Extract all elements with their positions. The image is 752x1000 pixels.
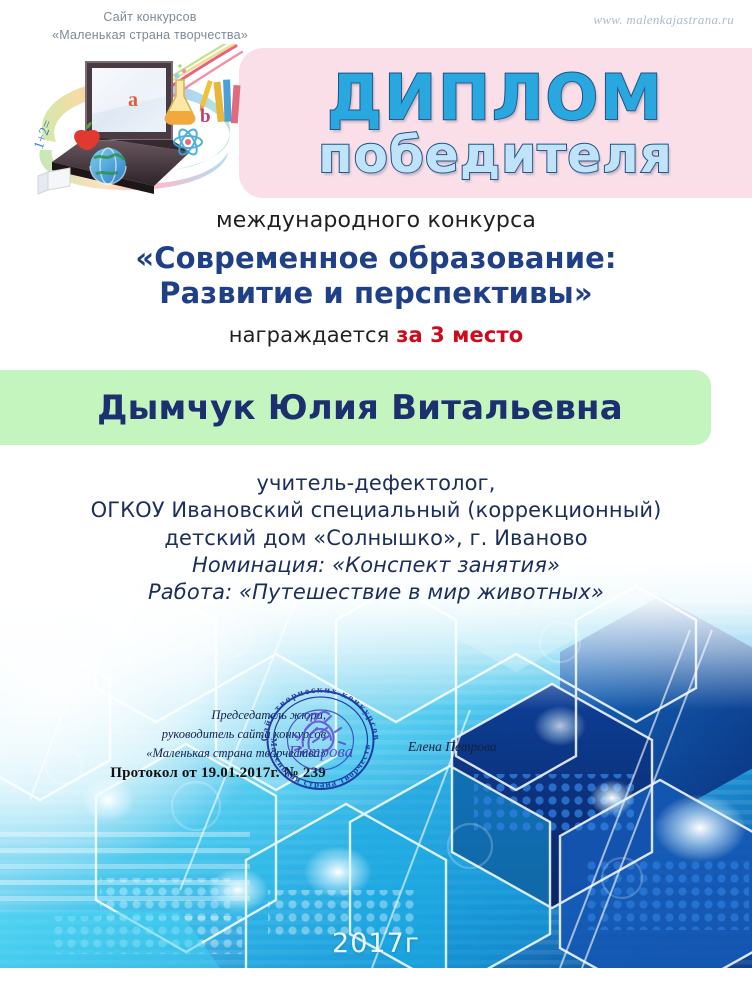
recipient-details: учитель-дефектолог, ОГКОУ Ивановский спе… bbox=[0, 470, 752, 606]
certificate-page: Сайт конкурсов «Маленькая страна творчес… bbox=[0, 0, 752, 1000]
recipient-detail-line: Номинация: «Конспект занятия» bbox=[0, 552, 752, 579]
recipient-detail-line: детский дом «Солнышко», г. Иваново bbox=[0, 525, 752, 552]
recipient-detail-line: Работа: «Путешествие в мир животных» bbox=[0, 579, 752, 606]
recipient-detail-line: ОГКОУ Ивановский специальный (коррекцион… bbox=[0, 497, 752, 524]
award-subtitle: международного конкурса bbox=[0, 208, 752, 233]
site-name-header: Сайт конкурсов «Маленькая страна творчес… bbox=[0, 8, 300, 44]
site-url: www. malenkajastrana.ru bbox=[593, 12, 734, 28]
title-diplom: ДИПЛОМ bbox=[327, 68, 664, 128]
seal-icon: ★ Сайт творческих конкурсов ★ Маленькая … bbox=[253, 684, 388, 794]
award-place: за 3 место bbox=[396, 323, 523, 347]
title-pobeditelya: победителя bbox=[318, 130, 673, 180]
competition-name-line1: «Современное образование: bbox=[0, 241, 752, 276]
certificate-year: 2017г bbox=[0, 928, 752, 959]
recipient-name: Дымчук Юлия Витальевна bbox=[97, 388, 623, 428]
seal-signature-text: Петрова bbox=[288, 742, 354, 761]
recipient-name-banner: Дымчук Юлия Витальевна bbox=[0, 370, 720, 445]
awarded-prefix: награждается bbox=[229, 323, 396, 347]
recipient-detail-line: учитель-дефектолог, bbox=[0, 470, 752, 497]
signer-name: Елена Петрова bbox=[408, 739, 497, 755]
laptop-education-logo-icon: a b 1+2= bbox=[22, 44, 252, 204]
svg-text:b: b bbox=[200, 106, 211, 127]
site-name-line2: «Маленькая страна творчества» bbox=[0, 26, 300, 44]
site-name-line1: Сайт конкурсов bbox=[0, 8, 300, 26]
award-block: международного конкурса «Современное обр… bbox=[0, 208, 752, 347]
award-line: награждается за 3 место bbox=[0, 323, 752, 347]
site-logo: a b 1+2= bbox=[22, 44, 252, 204]
competition-name-line2: Развитие и перспективы» bbox=[0, 276, 752, 311]
certificate-title: ДИПЛОМ победителя bbox=[239, 44, 752, 204]
svg-text:a: a bbox=[128, 89, 138, 111]
official-seal: ★ Сайт творческих конкурсов ★ Маленькая … bbox=[253, 684, 388, 794]
